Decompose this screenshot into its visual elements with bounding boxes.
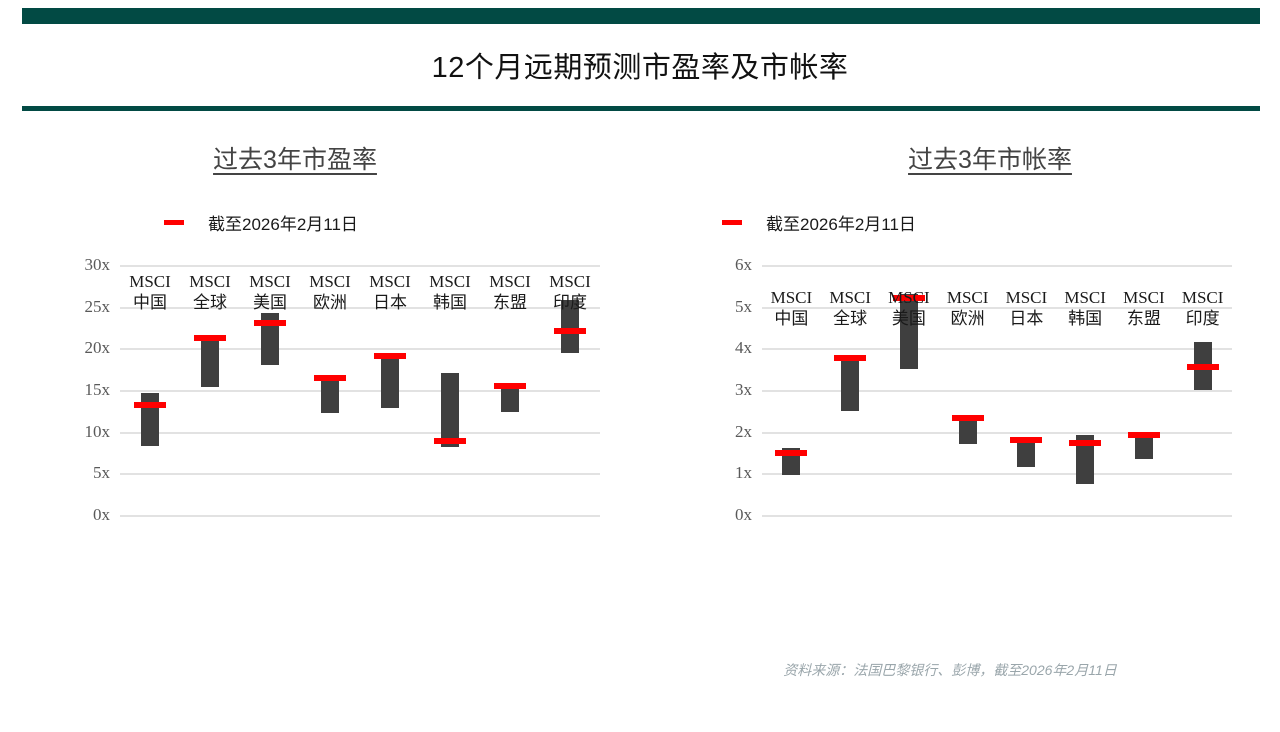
x-axis-label: MSCI韩国: [1064, 287, 1106, 330]
chart-title-pe: 过去3年市盈率: [0, 140, 640, 176]
y-axis-tick-label: 25x: [85, 297, 111, 317]
legend-marker-icon: [164, 220, 184, 225]
y-axis-tick-label: 0x: [93, 505, 110, 525]
x-axis-label: MSCI中国: [129, 271, 171, 314]
x-axis-label: MSCI日本: [369, 271, 411, 314]
gridline: [120, 515, 600, 517]
x-axis-label: MSCI日本: [1006, 287, 1048, 330]
chart-legend-pb: 截至2026年2月11日: [650, 210, 1270, 235]
legend-label-pb: 截至2026年2月11日: [766, 210, 916, 235]
range-bar: [441, 373, 459, 447]
legend-label-pe: 截至2026年2月11日: [208, 210, 358, 235]
chart-panel-pb: 过去3年市帐率 截至2026年2月11日 0x1x2x3x4x5x6x MSCI…: [650, 140, 1270, 700]
x-axis-label: MSCI中国: [771, 287, 813, 330]
x-axis-label: MSCI东盟: [489, 271, 531, 314]
range-bar: [501, 385, 519, 412]
plot-wrapper-pb: 0x1x2x3x4x5x6x MSCI中国MSCI全球MSCI美国MSCI欧洲M…: [650, 265, 1270, 515]
legend-marker-icon: [722, 220, 742, 225]
gridline: [762, 515, 1232, 517]
y-axis-tick-label: 1x: [735, 463, 752, 483]
y-axis-tick-label: 10x: [85, 422, 111, 442]
x-axis-label: MSCI欧洲: [309, 271, 351, 314]
current-value-marker: [1069, 440, 1101, 446]
current-value-marker: [314, 375, 346, 381]
current-value-marker: [554, 328, 586, 334]
current-value-marker: [775, 450, 807, 456]
page-title: 12个月远期预测市盈率及市帐率: [0, 44, 1280, 86]
chart-title-pb: 过去3年市帐率: [710, 140, 1270, 176]
y-axis-tick-label: 30x: [85, 255, 111, 275]
range-bar: [321, 377, 339, 414]
y-axis-tick-label: 5x: [735, 297, 752, 317]
current-value-marker: [254, 320, 286, 326]
range-bar: [381, 355, 399, 408]
current-value-marker: [834, 355, 866, 361]
y-axis-tick-label: 6x: [735, 255, 752, 275]
chart-panel-pe: 过去3年市盈率 截至2026年2月11日 0x5x10x15x20x25x30x…: [20, 140, 640, 700]
y-axis-tick-label: 0x: [735, 505, 752, 525]
current-value-marker: [374, 353, 406, 359]
chart-legend-pe: 截至2026年2月11日: [20, 210, 640, 235]
current-value-marker: [952, 415, 984, 421]
range-bar: [201, 339, 219, 387]
plot-wrapper-pe: 0x5x10x15x20x25x30x MSCI中国MSCI全球MSCI美国MS…: [20, 265, 640, 515]
range-bar: [841, 355, 859, 411]
x-axis-label: MSCI东盟: [1123, 287, 1165, 330]
x-axis-label: MSCI全球: [829, 287, 871, 330]
x-axis-label: MSCI印度: [1182, 287, 1224, 330]
slide-root: 12个月远期预测市盈率及市帐率 过去3年市盈率 截至2026年2月11日 0x5…: [0, 0, 1280, 732]
y-axis-tick-label: 5x: [93, 463, 110, 483]
x-axis-label: MSCI欧洲: [947, 287, 989, 330]
y-axis-tick-label: 3x: [735, 380, 752, 400]
current-value-marker: [1187, 364, 1219, 370]
current-value-marker: [434, 438, 466, 444]
current-value-marker: [494, 383, 526, 389]
current-value-marker: [194, 335, 226, 341]
y-axis-tick-label: 2x: [735, 422, 752, 442]
x-axis-label: MSCI美国: [888, 287, 930, 330]
title-divider: [22, 106, 1260, 111]
y-axis-tick-label: 20x: [85, 338, 111, 358]
current-value-marker: [1010, 437, 1042, 443]
x-axis-label: MSCI韩国: [429, 271, 471, 314]
source-note: 资料来源：法国巴黎银行、彭博，截至2026年2月11日: [650, 660, 1250, 680]
current-value-marker: [1128, 432, 1160, 438]
header-accent-bar: [22, 8, 1260, 24]
current-value-marker: [134, 402, 166, 408]
y-axis-tick-label: 4x: [735, 338, 752, 358]
x-axis-label: MSCI全球: [189, 271, 231, 314]
y-axis-tick-label: 15x: [85, 380, 111, 400]
x-axis-label: MSCI美国: [249, 271, 291, 314]
x-axis-label: MSCI印度: [549, 271, 591, 314]
